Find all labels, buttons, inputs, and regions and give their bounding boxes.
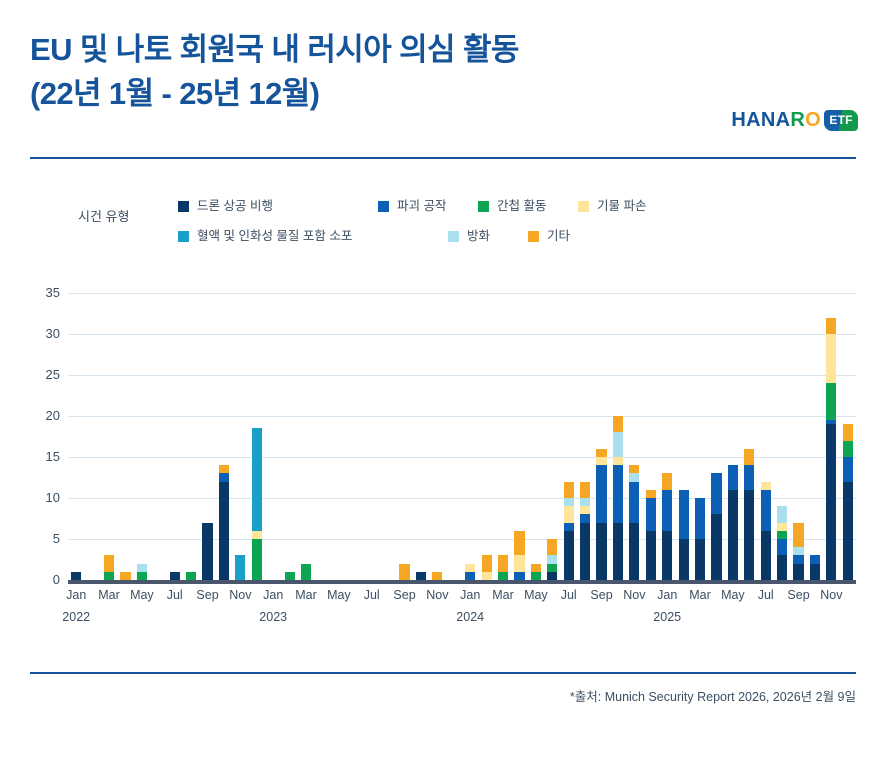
bar-segment-sabotage xyxy=(761,490,771,531)
logo-text-hana: HANA xyxy=(731,109,790,131)
bar-2025-08[interactable] xyxy=(777,506,787,580)
x-tick-label: May xyxy=(721,588,745,602)
bar-segment-other xyxy=(843,424,853,440)
bar-segment-vandalism xyxy=(761,482,771,490)
bar-segment-drone xyxy=(695,539,705,580)
bar-segment-other xyxy=(547,539,557,555)
chart-legend: 시건 유형 드론 상공 비행파괴 공작간첩 활동기물 파손혈액 및 인화성 물질… xyxy=(78,200,778,262)
bar-2023-11[interactable] xyxy=(432,572,442,580)
bar-segment-sabotage xyxy=(219,473,229,481)
bar-2024-12[interactable] xyxy=(646,490,656,580)
bar-segment-drone xyxy=(580,523,590,580)
source-note: *출처: Munich Security Report 2026, 2026년 … xyxy=(570,686,856,705)
bar-2024-05[interactable] xyxy=(531,564,541,580)
bar-2022-09[interactable] xyxy=(202,523,212,580)
bar-segment-vandalism xyxy=(777,523,787,531)
bar-segment-vandalism xyxy=(596,457,606,465)
bar-segment-sabotage xyxy=(580,514,590,522)
bar-segment-drone xyxy=(777,555,787,580)
bar-segment-sabotage xyxy=(662,490,672,531)
bar-segment-sabotage xyxy=(777,539,787,555)
bar-segment-other xyxy=(826,318,836,334)
x-tick-label: Sep xyxy=(393,588,415,602)
bar-2025-10[interactable] xyxy=(810,555,820,580)
bar-segment-drone xyxy=(679,539,689,580)
bar-segment-sabotage xyxy=(564,523,574,531)
bar-2023-10[interactable] xyxy=(416,572,426,580)
bar-2025-09[interactable] xyxy=(793,523,803,580)
x-tick-label: Sep xyxy=(787,588,809,602)
bar-segment-other xyxy=(399,564,409,580)
x-tick-label: Jan xyxy=(460,588,480,602)
legend-swatch-icon xyxy=(448,231,459,242)
legend-label: 파괴 공작 xyxy=(397,200,446,213)
legend-item-3[interactable]: 기물 파손 xyxy=(578,200,646,213)
bar-segment-arson xyxy=(613,432,623,457)
x-tick-label: May xyxy=(327,588,351,602)
bar-segment-other xyxy=(564,482,574,498)
bar-2024-04[interactable] xyxy=(514,531,524,580)
x-tick-label: Sep xyxy=(196,588,218,602)
bar-segment-sabotage xyxy=(596,465,606,522)
bar-2022-07[interactable] xyxy=(170,572,180,580)
title-line-1: EU 및 나토 회원국 내 러시아 의심 활동 xyxy=(30,28,690,72)
bar-segment-drone xyxy=(564,531,574,580)
bar-segment-drone xyxy=(629,523,639,580)
bar-segment-espionage xyxy=(843,441,853,457)
x-tick-label: Jul xyxy=(758,588,774,602)
y-tick-label: 25 xyxy=(20,367,60,382)
bar-2025-06[interactable] xyxy=(744,449,754,580)
bar-segment-other xyxy=(120,572,130,580)
legend-swatch-icon xyxy=(178,201,189,212)
x-tick-label: Jan xyxy=(66,588,86,602)
bar-segment-vandalism xyxy=(465,564,475,572)
bar-segment-vandalism xyxy=(580,506,590,514)
bar-segment-drone xyxy=(761,531,771,580)
x-tick-label: Mar xyxy=(492,588,514,602)
legend-title: 시건 유형 xyxy=(78,206,129,225)
bar-segment-other xyxy=(104,555,114,571)
bar-segment-vandalism xyxy=(482,572,492,580)
bar-segment-other xyxy=(219,465,229,473)
legend-label: 기타 xyxy=(547,230,570,243)
logo-etf-badge: ETF xyxy=(824,110,858,131)
bar-segment-espionage xyxy=(531,572,541,580)
bar-segment-sabotage xyxy=(613,465,623,522)
bar-segment-other xyxy=(744,449,754,465)
legend-label: 드론 상공 비행 xyxy=(197,200,273,213)
logo-text-r: R xyxy=(790,109,805,131)
bar-segment-arson xyxy=(564,498,574,506)
y-tick-label: 0 xyxy=(20,572,60,587)
bar-2024-03[interactable] xyxy=(498,555,508,580)
legend-item-1[interactable]: 파괴 공작 xyxy=(378,200,446,213)
legend-item-5[interactable]: 방화 xyxy=(448,230,490,243)
y-tick-label: 35 xyxy=(20,285,60,300)
bar-segment-sabotage xyxy=(695,498,705,539)
bar-segment-other xyxy=(596,449,606,457)
bar-segment-other xyxy=(613,416,623,432)
bar-segment-other xyxy=(498,555,508,571)
bar-segment-sabotage xyxy=(514,572,524,580)
header-divider xyxy=(30,157,856,159)
bar-2024-07[interactable] xyxy=(564,482,574,580)
x-year-label: 2024 xyxy=(456,610,484,624)
bar-segment-other xyxy=(646,490,656,498)
y-tick-label: 30 xyxy=(20,326,60,341)
bar-2024-10[interactable] xyxy=(613,416,623,580)
bar-segment-arson xyxy=(777,506,787,522)
bar-segment-vandalism xyxy=(514,555,524,571)
bar-segment-espionage xyxy=(301,564,311,580)
bar-2024-11[interactable] xyxy=(629,465,639,580)
bar-segment-espionage xyxy=(777,531,787,539)
x-year-label: 2022 xyxy=(62,610,90,624)
bar-2025-07[interactable] xyxy=(761,482,771,580)
x-axis-line xyxy=(68,580,856,584)
y-tick-label: 20 xyxy=(20,408,60,423)
bar-segment-other xyxy=(793,523,803,548)
y-tick-label: 10 xyxy=(20,490,60,505)
bar-segment-arson xyxy=(137,564,147,572)
bar-2025-05[interactable] xyxy=(728,465,738,580)
bar-segment-drone xyxy=(711,514,721,580)
bar-segment-espionage xyxy=(498,572,508,580)
legend-swatch-icon xyxy=(478,201,489,212)
bar-2025-12[interactable] xyxy=(843,424,853,580)
bar-2022-12[interactable] xyxy=(252,428,262,580)
bar-segment-espionage xyxy=(547,564,557,572)
x-tick-label: Jul xyxy=(167,588,183,602)
bar-segment-sabotage xyxy=(843,457,853,482)
bar-segment-arson xyxy=(547,555,557,563)
bar-segment-vandalism xyxy=(826,334,836,383)
bar-segment-drone xyxy=(843,482,853,580)
x-tick-label: May xyxy=(524,588,548,602)
x-tick-label: Jul xyxy=(561,588,577,602)
bar-segment-sabotage xyxy=(711,473,721,514)
bar-segment-drone xyxy=(202,523,212,580)
bar-segment-sabotage xyxy=(465,572,475,580)
bar-segment-drone xyxy=(170,572,180,580)
bar-segment-drone xyxy=(662,531,672,580)
x-tick-label: Mar xyxy=(98,588,120,602)
bar-2022-10[interactable] xyxy=(219,465,229,580)
bar-segment-drone xyxy=(71,572,81,580)
bar-2024-06[interactable] xyxy=(547,539,557,580)
legend-swatch-icon xyxy=(528,231,539,242)
legend-label: 간첩 활동 xyxy=(497,200,546,213)
x-year-label: 2023 xyxy=(259,610,287,624)
bar-segment-sabotage xyxy=(810,555,820,563)
bar-2024-08[interactable] xyxy=(580,482,590,580)
bar-2025-11[interactable] xyxy=(826,318,836,580)
bar-segment-drone xyxy=(810,564,820,580)
bar-segment-sabotage xyxy=(629,482,639,523)
bar-segment-sabotage xyxy=(646,498,656,531)
bar-segment-drone xyxy=(826,424,836,580)
bar-2025-02[interactable] xyxy=(679,490,689,580)
bar-segment-drone xyxy=(219,482,229,580)
bar-segment-arson xyxy=(629,473,639,481)
x-tick-label: Nov xyxy=(426,588,448,602)
bar-2022-04[interactable] xyxy=(120,572,130,580)
x-tick-label: Sep xyxy=(590,588,612,602)
header: EU 및 나토 회원국 내 러시아 의심 활동 (22년 1월 - 25년 12… xyxy=(0,0,886,160)
bar-segment-espionage xyxy=(285,572,295,580)
x-tick-label: Nov xyxy=(229,588,251,602)
x-tick-label: Jan xyxy=(657,588,677,602)
bar-segment-sabotage xyxy=(744,465,754,490)
bar-segment-espionage xyxy=(104,572,114,580)
legend-item-6[interactable]: 기타 xyxy=(528,230,570,243)
bar-segment-vandalism xyxy=(564,506,574,522)
bar-segment-vandalism xyxy=(613,457,623,465)
bar-segment-vandalism xyxy=(252,531,262,539)
bar-2023-09[interactable] xyxy=(399,564,409,580)
title-line-2: (22년 1월 - 25년 12월) xyxy=(30,72,690,116)
bar-segment-arson xyxy=(580,498,590,506)
x-tick-label: Jul xyxy=(364,588,380,602)
bar-segment-espionage xyxy=(186,572,196,580)
legend-swatch-icon xyxy=(378,201,389,212)
legend-label: 혈액 및 인화성 물질 포함 소포 xyxy=(197,230,352,243)
bar-2024-02[interactable] xyxy=(482,555,492,580)
bar-segment-drone xyxy=(416,572,426,580)
bar-segment-other xyxy=(580,482,590,498)
y-tick-label: 5 xyxy=(20,531,60,546)
legend-item-4[interactable]: 혈액 및 인화성 물질 포함 소포 xyxy=(178,230,352,243)
bar-segment-other xyxy=(629,465,639,473)
x-tick-label: Nov xyxy=(623,588,645,602)
bar-segment-sabotage xyxy=(679,490,689,539)
logo-text-o: O xyxy=(805,109,821,131)
x-tick-label: Jan xyxy=(263,588,283,602)
bar-2022-08[interactable] xyxy=(186,572,196,580)
bar-segment-drone xyxy=(547,572,557,580)
bar-segment-espionage xyxy=(826,383,836,420)
bar-segment-other xyxy=(482,555,492,571)
bar-segment-parcel xyxy=(252,428,262,531)
bar-segment-drone xyxy=(613,523,623,580)
bar-segment-drone xyxy=(744,490,754,580)
bar-2025-03[interactable] xyxy=(695,498,705,580)
bar-2025-01[interactable] xyxy=(662,473,672,580)
legend-label: 방화 xyxy=(467,230,490,243)
bar-2022-03[interactable] xyxy=(104,555,114,580)
bar-segment-parcel xyxy=(235,555,245,580)
bar-segment-drone xyxy=(596,523,606,580)
bar-segment-arson xyxy=(793,547,803,555)
x-tick-label: Nov xyxy=(820,588,842,602)
bar-2024-01[interactable] xyxy=(465,564,475,580)
x-axis: JanMarMayJulSepNovJanMarMayJulSepNovJanM… xyxy=(68,588,868,638)
page-title: EU 및 나토 회원국 내 러시아 의심 활동 (22년 1월 - 25년 12… xyxy=(30,28,690,116)
legend-swatch-icon xyxy=(578,201,589,212)
chart-bars xyxy=(68,293,856,580)
bar-segment-drone xyxy=(646,531,656,580)
legend-item-0[interactable]: 드론 상공 비행 xyxy=(178,200,273,213)
bar-segment-sabotage xyxy=(793,555,803,563)
bar-2023-02[interactable] xyxy=(285,572,295,580)
logo-wordmark: HANARO xyxy=(731,110,821,130)
bar-segment-sabotage xyxy=(728,465,738,490)
legend-label: 기물 파손 xyxy=(597,200,646,213)
x-year-label: 2025 xyxy=(653,610,681,624)
footer-divider xyxy=(30,672,856,674)
bar-segment-other xyxy=(432,572,442,580)
bar-segment-other xyxy=(531,564,541,572)
bar-2022-01[interactable] xyxy=(71,572,81,580)
bar-segment-other xyxy=(514,531,524,556)
x-tick-label: May xyxy=(130,588,154,602)
bar-segment-espionage xyxy=(137,572,147,580)
hanaro-etf-logo: HANARO ETF xyxy=(731,106,858,134)
x-tick-label: Mar xyxy=(689,588,711,602)
legend-swatch-icon xyxy=(178,231,189,242)
bar-2022-05[interactable] xyxy=(137,564,147,580)
bar-2025-04[interactable] xyxy=(711,473,721,580)
bar-2024-09[interactable] xyxy=(596,449,606,580)
bar-segment-espionage xyxy=(252,539,262,580)
bar-segment-drone xyxy=(728,490,738,580)
bar-segment-drone xyxy=(793,564,803,580)
bar-2022-11[interactable] xyxy=(235,555,245,580)
bar-segment-other xyxy=(662,473,672,489)
y-axis: 05101520253035 xyxy=(22,293,60,580)
y-tick-label: 15 xyxy=(20,449,60,464)
x-tick-label: Mar xyxy=(295,588,317,602)
legend-item-2[interactable]: 간첩 활동 xyxy=(478,200,546,213)
bar-2023-03[interactable] xyxy=(301,564,311,580)
